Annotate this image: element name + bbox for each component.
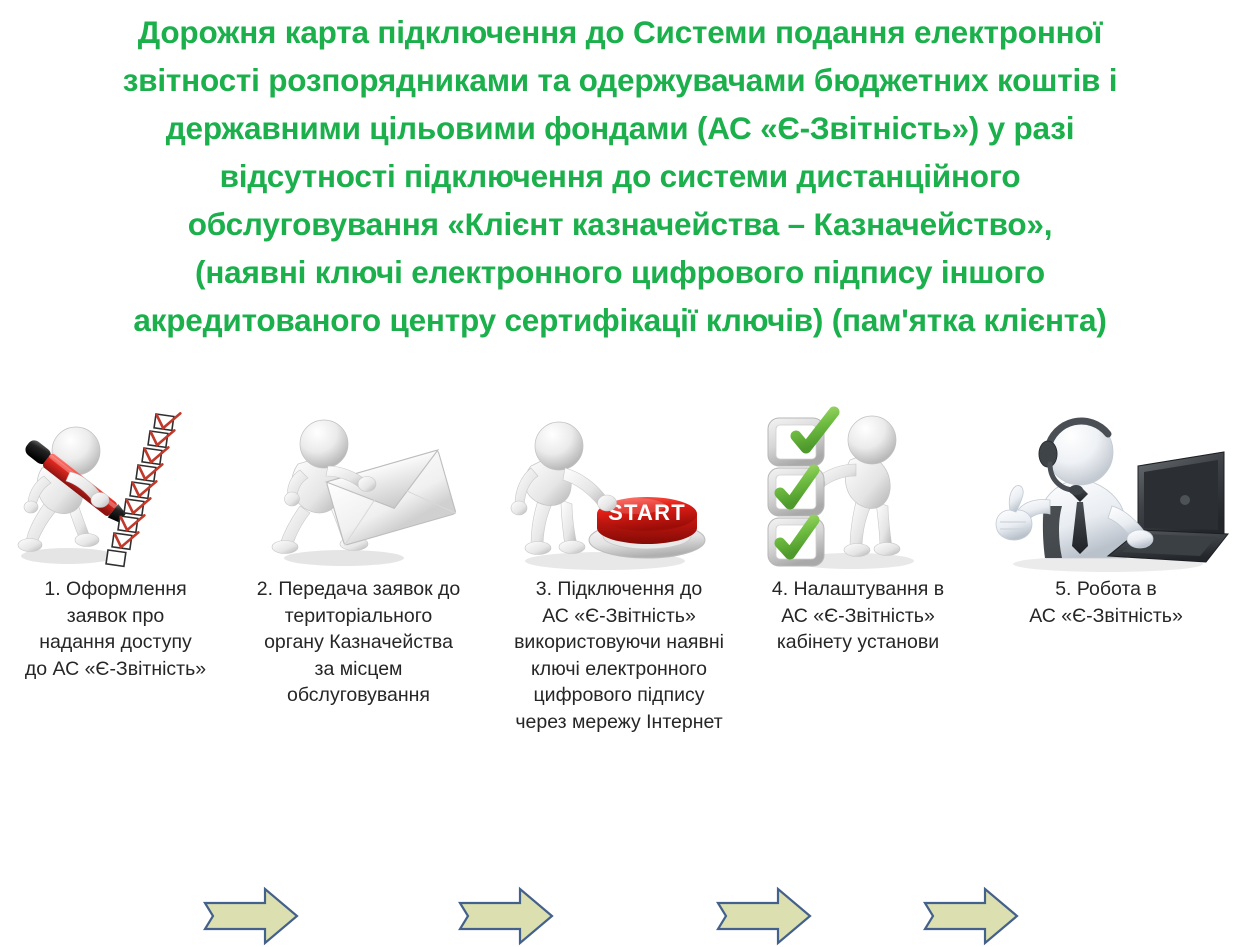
person-pressing-start-button-illustration: START [495,406,743,576]
flow-step-5-caption: 5. Робота в АС «Є-Звітність» [980,576,1232,629]
thumbs-up-icon [996,486,1032,540]
person-with-green-checkmark-boxes-illustration [752,406,964,576]
figure-head [848,416,896,464]
laptop [1108,452,1228,562]
title-line-5: обслуговування «Клієнт казначейства – Ка… [0,200,1240,248]
title-line-4: відсутності підключення до системи диста… [0,152,1240,200]
process-flow-diagram: 1. Оформлення заявок про надання доступу… [0,406,1240,772]
flow-step-5: 5. Робота в АС «Є-Звітність» [980,406,1232,772]
flow-step-1-caption: 1. Оформлення заявок про надання доступу… [8,576,223,682]
flow-step-3: START 3. Підключення до АС «Є-Звітність»… [495,406,743,772]
flow-arrow-3-to-4 [716,885,812,947]
right-arrow-icon [718,889,810,943]
title-line-6: (наявні ключі електронного цифрового під… [0,248,1240,296]
flow-step-3-caption: 3. Підключення до АС «Є-Звітність» викор… [495,576,743,735]
figure-head [300,420,348,468]
person-filling-checklist-with-red-pen-illustration [8,406,223,576]
typing-hand [1127,530,1153,548]
right-arrow-icon [460,889,552,943]
right-arrow-icon [205,889,297,943]
flow-arrow-1-to-2 [203,885,299,947]
flow-step-4: 4. Налаштування в АС «Є-Звітність» кабін… [752,406,964,772]
flow-arrow-4-to-5 [923,885,1019,947]
flow-step-1: 1. Оформлення заявок про надання доступу… [8,406,223,772]
start-button-label: START [608,500,686,525]
flow-step-2: 2. Передача заявок до територіального ор… [236,406,481,772]
title-line-1: Дорожня карта підключення до Системи под… [0,8,1240,56]
checklist [106,410,180,566]
checkbox-2 [768,468,824,516]
laptop-logo [1180,495,1190,505]
right-arrow-icon [925,889,1017,943]
envelope [326,450,456,545]
checkbox-3 [768,518,824,566]
page-title: Дорожня карта підключення до Системи под… [0,8,1240,344]
figure-shadow [284,550,404,566]
checkbox-stack [768,412,834,566]
person-with-headset-at-laptop-thumbs-up-illustration [980,406,1232,576]
title-line-7: акредитованого центру сертифікації ключі… [0,296,1240,344]
title-line-3: державними цільовими фондами (АС «Є-Звіт… [0,104,1240,152]
flow-step-4-caption: 4. Налаштування в АС «Є-Звітність» кабін… [752,576,964,656]
person-carrying-envelope-illustration [236,406,481,576]
flow-arrow-2-to-3 [458,885,554,947]
figure-head [535,422,583,470]
title-line-2: звітності розпорядниками та одержувачами… [0,56,1240,104]
flow-step-2-caption: 2. Передача заявок до територіального ор… [236,576,481,709]
